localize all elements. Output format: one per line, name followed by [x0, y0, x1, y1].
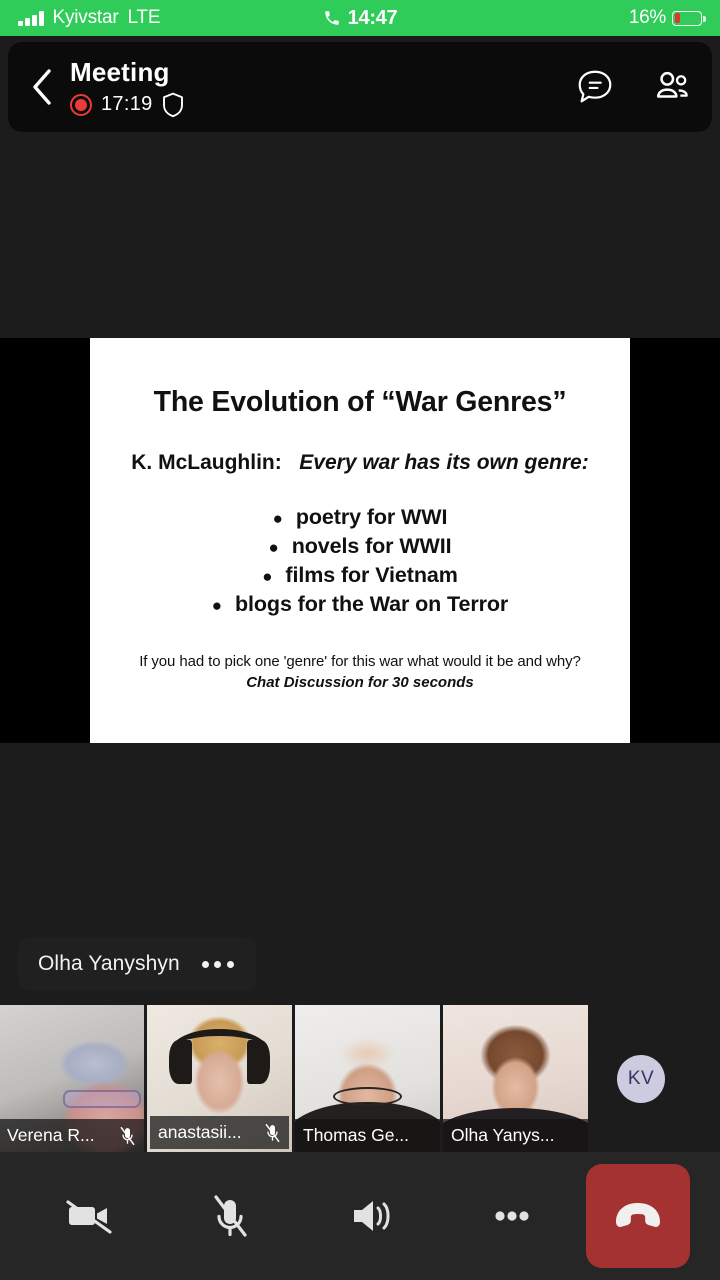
back-button[interactable] — [20, 65, 64, 109]
self-view-name-pill[interactable]: Olha Yanyshyn — [18, 938, 256, 990]
chevron-left-icon — [30, 68, 54, 106]
status-bar-right: 16% — [629, 7, 702, 29]
speaker-on-icon — [342, 1187, 400, 1245]
bullet-dot-icon: ● — [212, 597, 222, 614]
slide-footer-cta: Chat Discussion for 30 seconds — [139, 674, 581, 691]
system-status-bar: Kyivstar LTE 14:47 16% — [0, 0, 720, 36]
chat-bubble-icon — [574, 65, 616, 109]
camera-toggle-button[interactable] — [18, 1166, 159, 1266]
network-type-label: LTE — [127, 7, 160, 29]
call-control-bar — [0, 1152, 720, 1280]
participant-namebar: Thomas Ge... — [295, 1119, 440, 1152]
participants-button[interactable] — [652, 66, 694, 108]
mic-toggle-button[interactable] — [159, 1166, 300, 1266]
bullet-dot-icon: ● — [269, 539, 279, 556]
header-actions — [574, 66, 694, 108]
hangup-button[interactable] — [586, 1164, 690, 1268]
slide-bullet-item: ● novels for WWII — [269, 534, 452, 559]
slide-attribution: K. McLaughlin: Every war has its own gen… — [131, 451, 588, 475]
avatar[interactable]: KV — [617, 1055, 665, 1103]
participant-tile[interactable]: Thomas Ge... — [295, 1005, 440, 1152]
video-off-icon — [60, 1187, 118, 1245]
slide-bullet-item: ● blogs for the War on Terror — [212, 592, 508, 617]
screen-share-area[interactable]: The Evolution of “War Genres” K. McLaugh… — [0, 338, 720, 743]
slide-bullet-text: novels for WWII — [292, 534, 452, 559]
page-title: Meeting — [70, 57, 184, 88]
self-view-name: Olha Yanyshyn — [38, 952, 180, 976]
recording-dot-icon — [70, 94, 92, 116]
slide-bullet-text: films for Vietnam — [285, 563, 457, 588]
participant-namebar: Olha Yanys... — [443, 1119, 588, 1152]
participant-filmstrip[interactable]: Verena R... anastasii... — [0, 1005, 720, 1152]
slide-bullet-text: poetry for WWI — [296, 505, 447, 530]
shared-slide: The Evolution of “War Genres” K. McLaugh… — [90, 338, 630, 743]
slide-bullet-item: ● films for Vietnam — [262, 563, 458, 588]
mic-off-icon — [119, 1126, 136, 1146]
slide-title: The Evolution of “War Genres” — [154, 386, 567, 419]
participant-name: Olha Yanys... — [451, 1125, 554, 1146]
phone-call-icon — [323, 9, 341, 27]
slide-bullet-list: ● poetry for WWI ● novels for WWII ● fil… — [116, 505, 604, 617]
filmstrip-overflow: KV — [591, 1005, 720, 1152]
meeting-subtitle: 17:19 — [70, 92, 184, 118]
bullet-dot-icon: ● — [273, 510, 283, 527]
slide-footer-question: If you had to pick one 'genre' for this … — [139, 653, 581, 670]
speaker-button[interactable] — [300, 1166, 441, 1266]
signal-bars-icon — [18, 11, 44, 26]
participant-namebar: Verena R... — [0, 1119, 144, 1152]
chat-button[interactable] — [574, 66, 616, 108]
shield-icon — [162, 92, 184, 118]
more-options-button[interactable] — [441, 1166, 582, 1266]
meeting-app-screen: Kyivstar LTE 14:47 16% Meeting 17:19 — [0, 0, 720, 1280]
bullet-dot-icon: ● — [262, 568, 272, 585]
carrier-label: Kyivstar — [53, 7, 119, 29]
mic-off-icon — [264, 1123, 281, 1143]
participant-tile[interactable]: Verena R... — [0, 1005, 144, 1152]
more-horizontal-icon[interactable] — [202, 961, 234, 968]
slide-bullet-item: ● poetry for WWI — [273, 505, 448, 530]
meeting-title-block: Meeting 17:19 — [70, 57, 184, 118]
slide-attribution-author: K. McLaughlin: — [131, 451, 282, 474]
recording-timer: 17:19 — [101, 93, 153, 116]
battery-percent-label: 16% — [629, 7, 666, 29]
more-horizontal-icon — [483, 1187, 541, 1245]
battery-icon — [672, 11, 702, 26]
meeting-stage: The Evolution of “War Genres” K. McLaugh… — [0, 132, 720, 1005]
slide-footer: If you had to pick one 'genre' for this … — [139, 653, 581, 691]
participant-name: Thomas Ge... — [303, 1125, 409, 1146]
people-icon — [652, 65, 694, 109]
slide-attribution-quote: Every war has its own genre: — [299, 451, 588, 474]
meeting-header: Meeting 17:19 — [8, 42, 712, 132]
slide-bullet-text: blogs for the War on Terror — [235, 592, 508, 617]
participant-tile[interactable]: Olha Yanys... — [443, 1005, 588, 1152]
status-bar-clock: 14:47 — [348, 7, 398, 30]
participant-namebar: anastasii... — [150, 1116, 289, 1149]
participant-tile[interactable]: anastasii... — [147, 1005, 292, 1152]
hangup-icon — [608, 1186, 668, 1246]
status-bar-left: Kyivstar LTE — [18, 7, 160, 29]
participant-name: Verena R... — [7, 1125, 95, 1146]
participant-name: anastasii... — [158, 1122, 242, 1143]
mic-off-icon — [201, 1187, 259, 1245]
